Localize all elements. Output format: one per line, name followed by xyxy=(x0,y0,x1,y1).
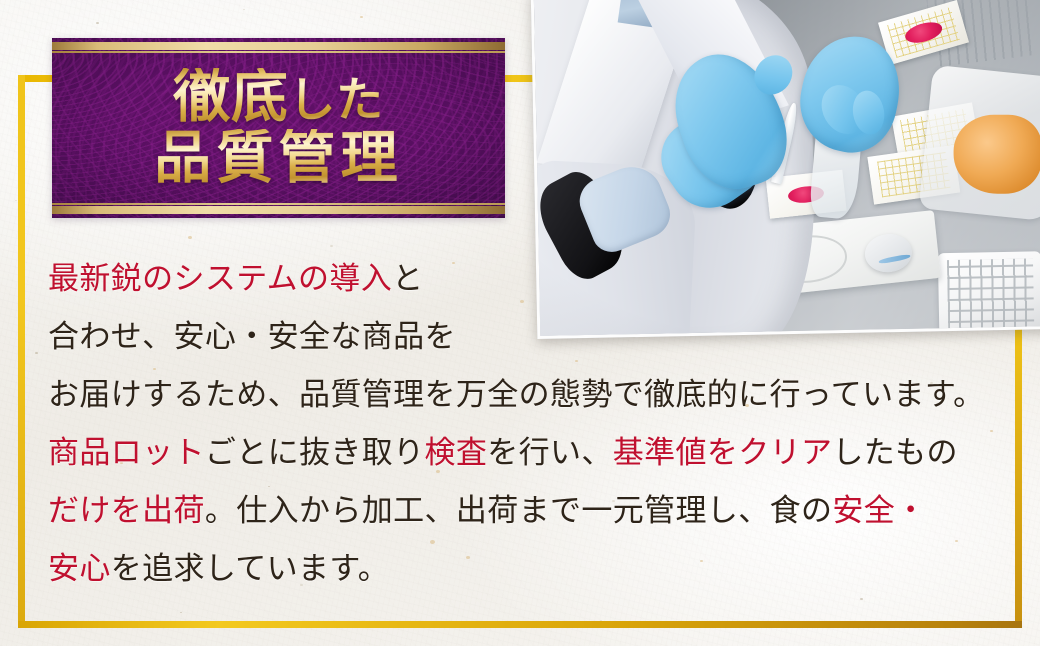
body-copy-text: 。仕入から加工、出荷まで一元管理し、食の xyxy=(205,493,832,528)
body-copy-text: ごとに抜き取り xyxy=(205,435,425,470)
title-line-2: 品質管理 xyxy=(154,129,403,188)
body-copy-text: を行い、 xyxy=(487,435,613,470)
body-copy-accent-text: だけを xyxy=(48,493,142,528)
body-copy-accent-text: 安全・ xyxy=(832,493,926,528)
body-copy-accent-text: 基準値をクリア xyxy=(613,435,833,470)
body-copy-accent-text: 出荷 xyxy=(142,493,205,528)
title-banner-text: 徹底した 品質管理 xyxy=(52,38,505,218)
title-banner: 徹底した 品質管理 xyxy=(52,38,505,218)
body-copy-text: を追求しています。 xyxy=(111,551,389,586)
body-copy-line: だけを出荷。仕入から加工、出荷まで一元管理し、食の安全・ xyxy=(48,482,1018,540)
body-copy-accent-text: 最新鋭のシステムの導入 xyxy=(48,261,392,296)
body-copy-line: お届けするため、品質管理を万全の態勢で徹底的に行っています。 xyxy=(48,366,1018,424)
title-line-1-suffix: した xyxy=(289,75,384,127)
body-copy-accent-text: 検査 xyxy=(424,435,487,470)
body-copy: 最新鋭のシステムの導入と合わせ、安心・安全な商品をお届けするため、品質管理を万全… xyxy=(48,250,1018,598)
body-copy-line: 商品ロットごとに抜き取り検査を行い、基準値をクリアしたもの xyxy=(48,424,1018,482)
body-copy-line: 安心を追求しています。 xyxy=(48,540,1018,598)
body-copy-line: 合わせ、安心・安全な商品を xyxy=(48,308,1018,366)
food-sample xyxy=(954,114,1040,193)
body-copy-text: 合わせ、安心・安全な商品を xyxy=(48,319,456,354)
promo-banner-root: 徹底した 品質管理 xyxy=(0,0,1040,646)
title-line-1: 徹底した xyxy=(173,68,384,127)
body-copy-accent-text: 安心 xyxy=(48,551,111,586)
body-copy-text: お届けするため、品質管理を万全の態勢で徹底的に行っています。 xyxy=(48,377,985,412)
body-copy-accent-text: 商品ロット xyxy=(48,435,205,470)
title-line-1-emphasis: 徹底 xyxy=(173,66,288,129)
body-copy-text: と xyxy=(392,261,423,296)
body-copy-line: 最新鋭のシステムの導入と xyxy=(48,250,1018,308)
sample-bag xyxy=(919,64,1040,221)
body-copy-text: したもの xyxy=(832,435,958,470)
